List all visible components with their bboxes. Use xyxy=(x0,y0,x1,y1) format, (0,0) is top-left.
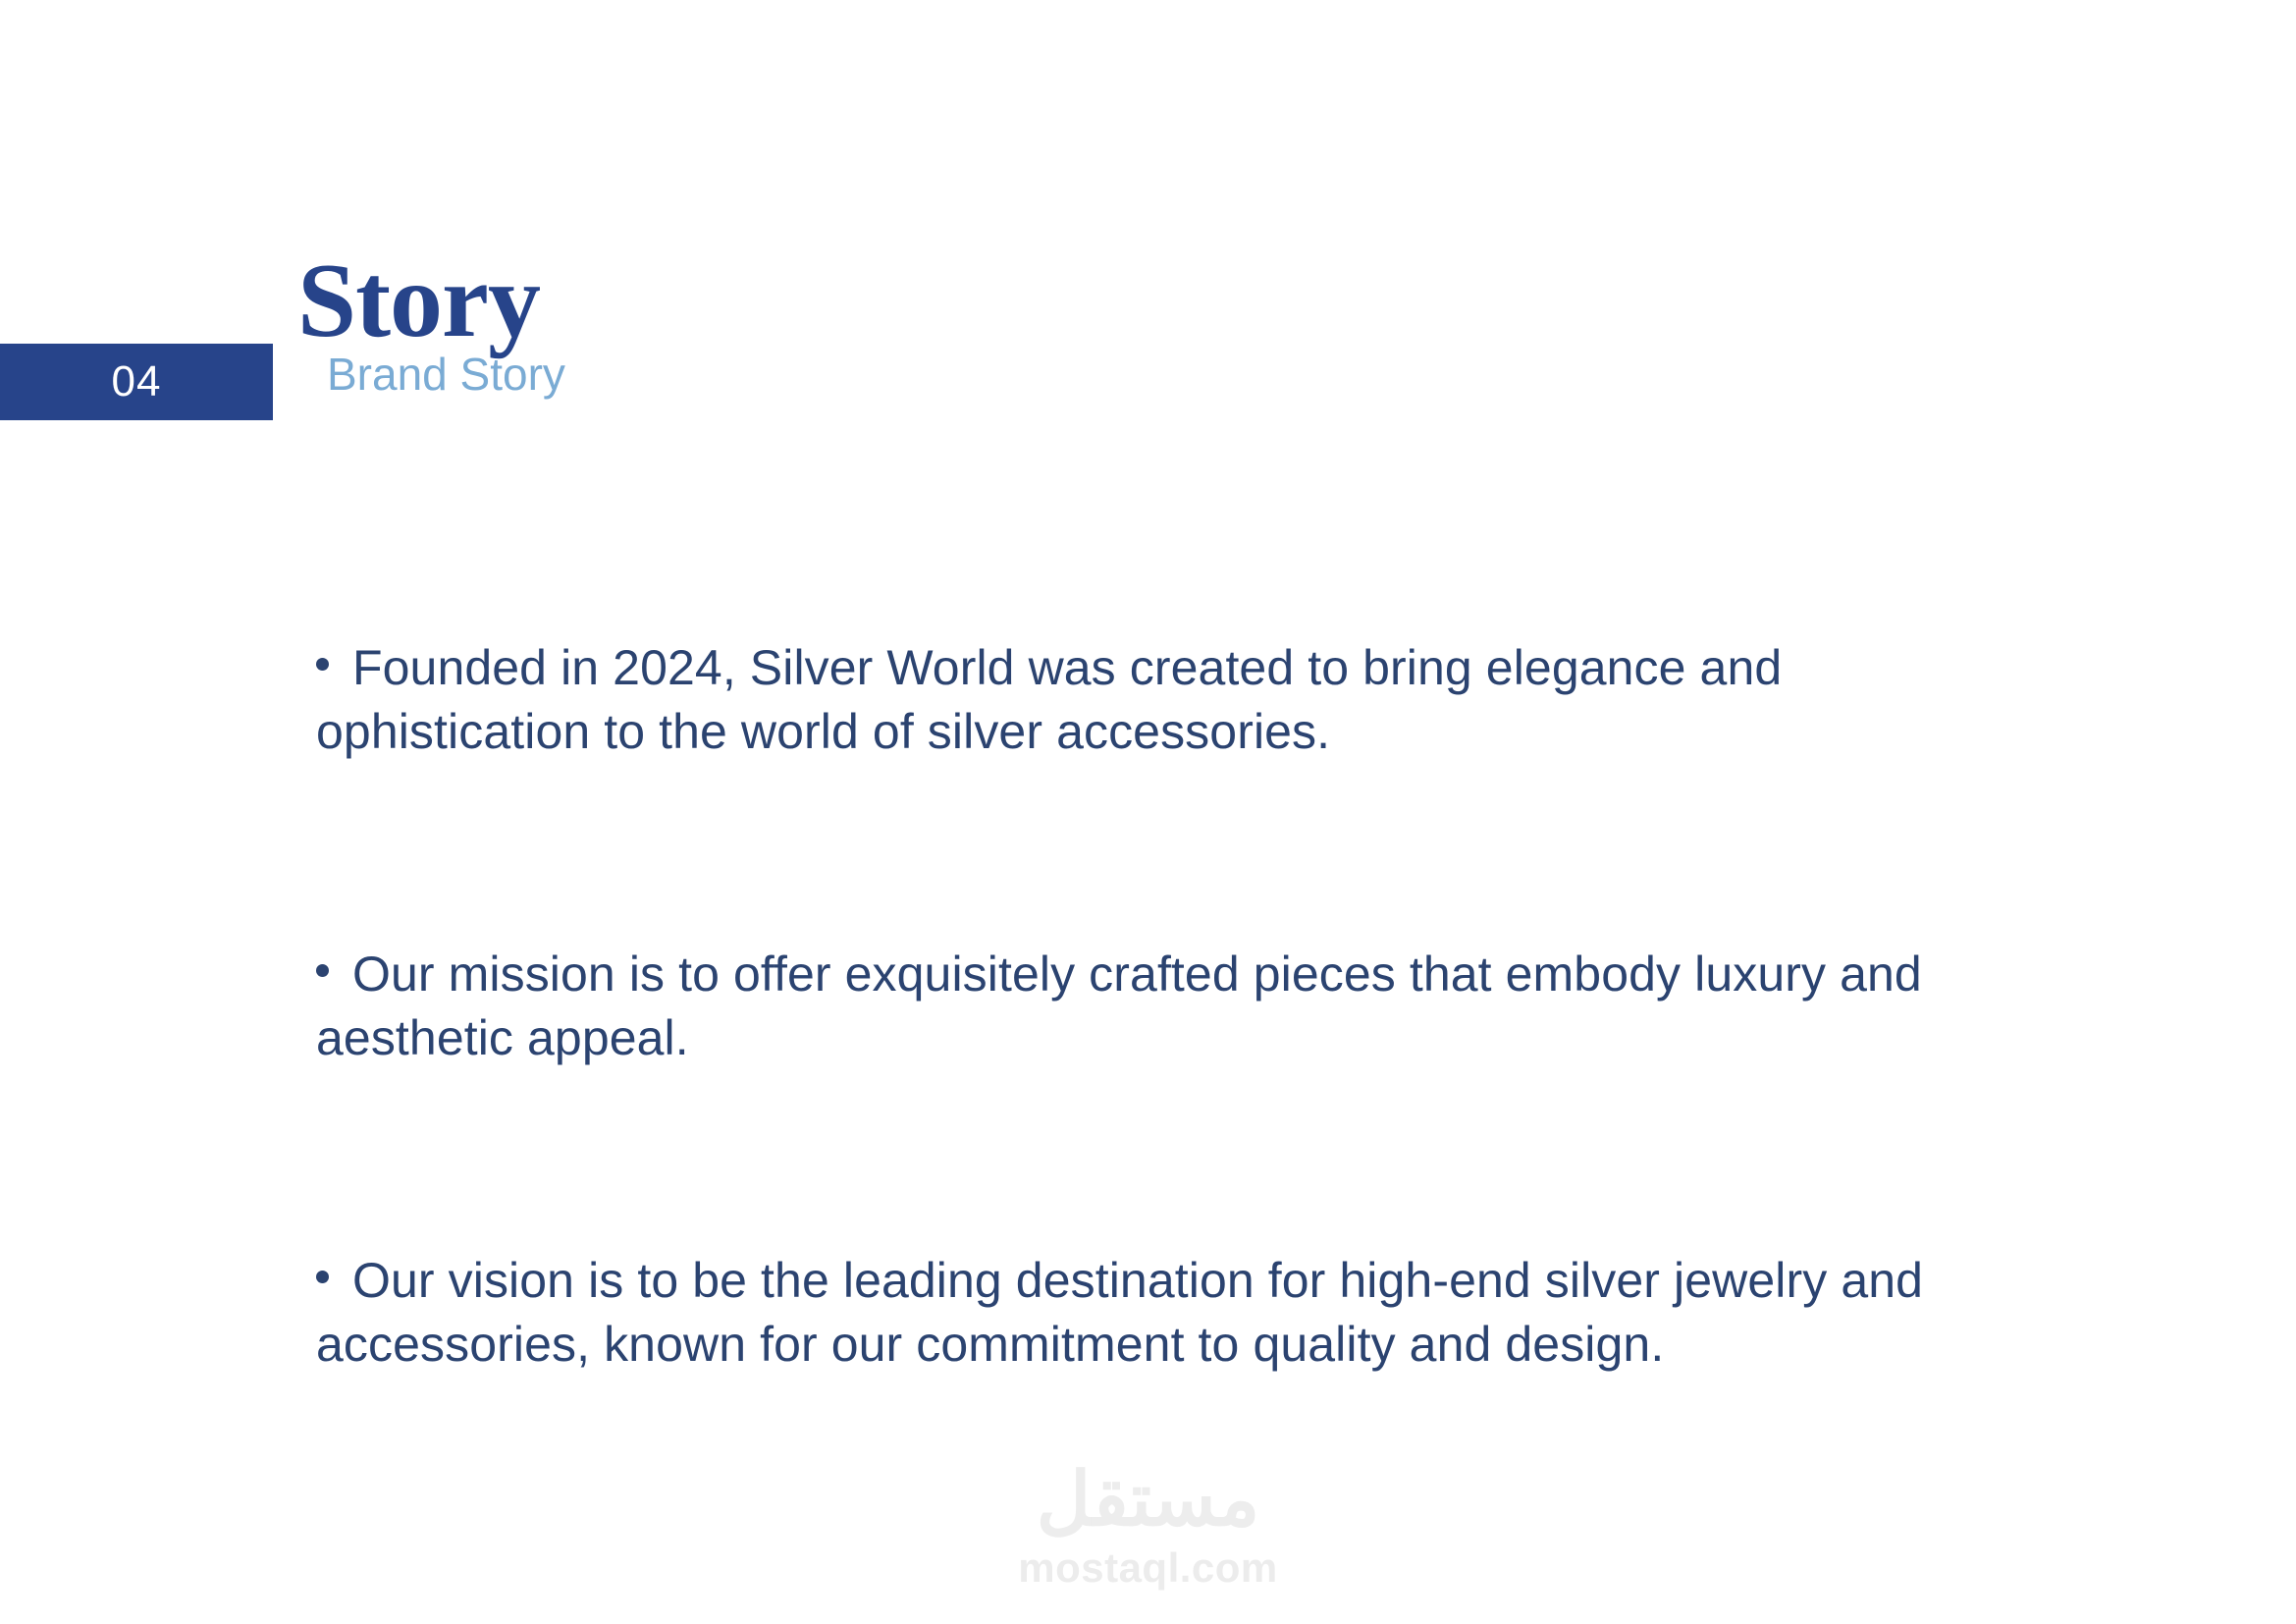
section-subtitle: Brand Story xyxy=(327,350,565,400)
section-number-label: 04 xyxy=(112,360,162,404)
bullet-dot-icon xyxy=(316,658,329,671)
list-item-text: Founded in 2024, Silver World was create… xyxy=(316,640,1782,759)
list-item: Our vision is to be the leading destinat… xyxy=(316,1249,1946,1377)
slide-canvas: Story 04 Brand Story Founded in 2024, Si… xyxy=(0,0,2296,1624)
section-number-badge: 04 xyxy=(0,344,273,420)
bullet-dot-icon xyxy=(316,964,329,977)
watermark-arabic-logo: مستقل xyxy=(1037,1463,1259,1538)
mostaql-watermark: مستقل mostaql.com xyxy=(0,1463,2296,1589)
page-title: Story xyxy=(297,245,540,356)
watermark-domain-label: mostaql.com xyxy=(1018,1547,1278,1589)
list-item: Founded in 2024, Silver World was create… xyxy=(316,636,1946,764)
bullet-dot-icon xyxy=(316,1271,329,1283)
list-item: Our mission is to offer exquisitely craf… xyxy=(316,943,1946,1070)
list-item-text: Our vision is to be the leading destinat… xyxy=(316,1253,1923,1372)
bullet-list: Founded in 2024, Silver World was create… xyxy=(316,636,1946,1377)
list-item-text: Our mission is to offer exquisitely craf… xyxy=(316,947,1922,1065)
